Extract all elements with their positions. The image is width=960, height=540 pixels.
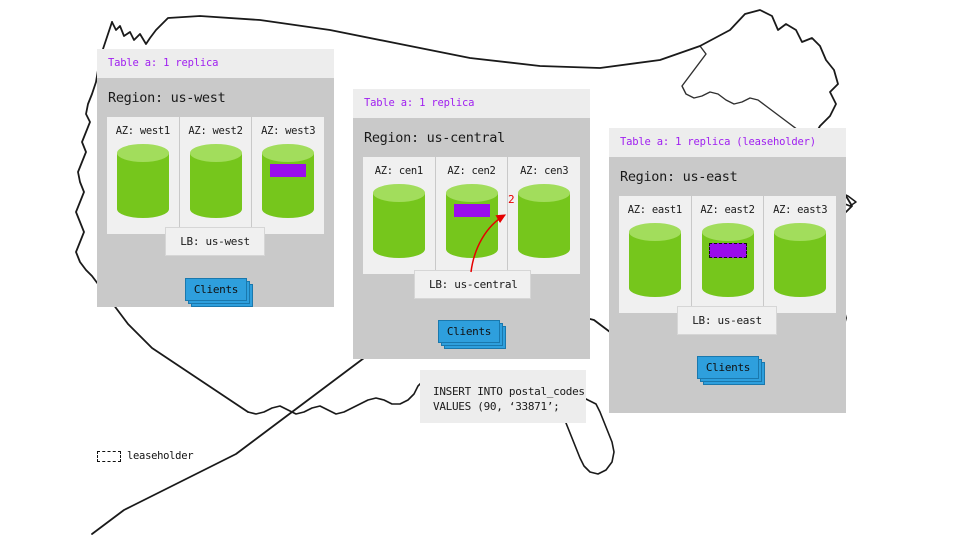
panel-header-us-east: Table a: 1 replica (leaseholder)	[609, 128, 846, 157]
cylinder-top	[262, 144, 314, 162]
node-cylinder-cen1[interactable]	[373, 184, 425, 258]
clients-stack-us-east[interactable]: Clients	[697, 356, 763, 382]
region-title-us-central: Region: us-central	[353, 118, 590, 157]
az-label-cen3: AZ: cen3	[508, 165, 580, 177]
lb-box-us-west[interactable]: LB: us-west	[165, 227, 265, 256]
clients-label: Clients	[697, 356, 759, 379]
clients-label: Clients	[438, 320, 500, 343]
dashed-rect-icon	[97, 451, 121, 462]
node-cylinder-west1[interactable]	[117, 144, 169, 218]
diagram-canvas: Table a: 1 replica Region: us-west AZ: w…	[0, 0, 960, 540]
az-cell-west3[interactable]: AZ: west3	[252, 117, 324, 234]
node-cylinder-cen2[interactable]	[446, 184, 498, 258]
az-cell-west1[interactable]: AZ: west1	[107, 117, 180, 234]
az-label-cen2: AZ: cen2	[436, 165, 508, 177]
cylinder-top	[446, 184, 498, 202]
lb-box-us-east[interactable]: LB: us-east	[677, 306, 777, 335]
az-cell-cen1[interactable]: AZ: cen1	[363, 157, 436, 274]
region-panel-us-east: Table a: 1 replica (leaseholder) Region:…	[609, 128, 846, 413]
az-row-us-central: AZ: cen1 AZ: cen2	[363, 157, 580, 274]
cylinder-top	[518, 184, 570, 202]
node-cylinder-east3[interactable]	[774, 223, 826, 297]
panel-body-us-west: Region: us-west AZ: west1 AZ: west2	[97, 78, 334, 307]
node-cylinder-cen3[interactable]	[518, 184, 570, 258]
replica-band-west3	[270, 164, 306, 177]
region-title-us-east: Region: us-east	[609, 157, 846, 196]
panel-header-us-central: Table a: 1 replica	[353, 89, 590, 118]
az-row-us-west: AZ: west1 AZ: west2	[107, 117, 324, 234]
clients-label: Clients	[185, 278, 247, 301]
lb-box-us-central[interactable]: LB: us-central	[414, 270, 531, 299]
node-cylinder-west3[interactable]	[262, 144, 314, 218]
cylinder-top	[117, 144, 169, 162]
az-cell-cen3[interactable]: AZ: cen3	[508, 157, 580, 274]
legend-label: leaseholder	[127, 450, 193, 462]
az-label-west2: AZ: west2	[180, 125, 252, 137]
az-label-east2: AZ: east2	[692, 204, 764, 216]
arrow-step-label-2: 2	[508, 193, 514, 206]
cylinder-top	[629, 223, 681, 241]
node-cylinder-west2[interactable]	[190, 144, 242, 218]
az-label-east1: AZ: east1	[619, 204, 691, 216]
node-cylinder-east2[interactable]	[702, 223, 754, 297]
panel-header-us-west: Table a: 1 replica	[97, 49, 334, 78]
node-cylinder-east1[interactable]	[629, 223, 681, 297]
cylinder-top	[373, 184, 425, 202]
replica-band-cen2	[454, 204, 490, 217]
cylinder-top	[774, 223, 826, 241]
az-cell-cen2[interactable]: AZ: cen2	[436, 157, 509, 274]
az-label-cen1: AZ: cen1	[363, 165, 435, 177]
az-cell-east2[interactable]: AZ: east2	[692, 196, 765, 313]
az-row-us-east: AZ: east1 AZ: east2	[619, 196, 836, 313]
az-cell-east1[interactable]: AZ: east1	[619, 196, 692, 313]
region-panel-us-west: Table a: 1 replica Region: us-west AZ: w…	[97, 49, 334, 307]
clients-stack-us-central[interactable]: Clients	[438, 320, 504, 346]
cylinder-top	[190, 144, 242, 162]
clients-stack-us-west[interactable]: Clients	[185, 278, 251, 304]
replica-band-east2-leaseholder	[709, 243, 747, 258]
az-label-east3: AZ: east3	[764, 204, 836, 216]
sql-statement-box: INSERT INTO postal_codes VALUES (90, ‘33…	[420, 370, 586, 423]
cylinder-top	[702, 223, 754, 241]
legend: leaseholder	[97, 450, 193, 462]
az-label-west1: AZ: west1	[107, 125, 179, 137]
region-panel-us-central: Table a: 1 replica Region: us-central AZ…	[353, 89, 590, 359]
region-title-us-west: Region: us-west	[97, 78, 334, 117]
az-cell-east3[interactable]: AZ: east3	[764, 196, 836, 313]
az-label-west3: AZ: west3	[252, 125, 324, 137]
az-cell-west2[interactable]: AZ: west2	[180, 117, 253, 234]
